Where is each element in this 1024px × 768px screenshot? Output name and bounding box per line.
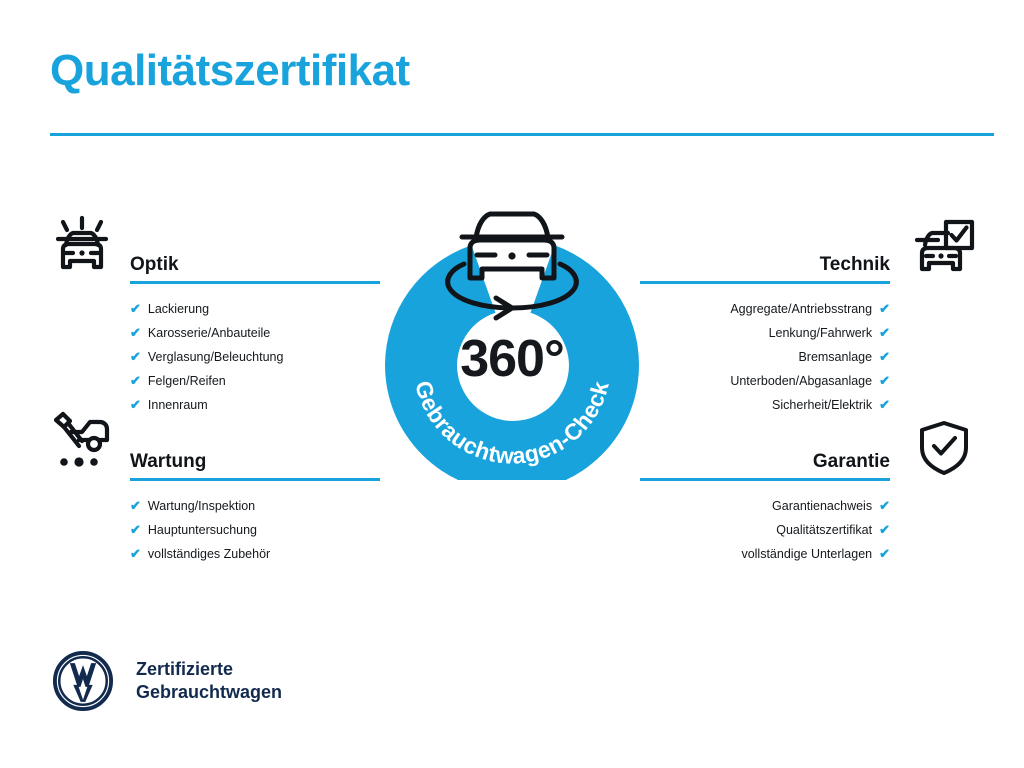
section-optik: Optik ✔Lackierung ✔Karosserie/Anbauteile…	[130, 240, 380, 417]
car-polish-icon	[46, 208, 118, 285]
check-icon: ✔	[130, 547, 141, 560]
check-icon: ✔	[130, 302, 141, 315]
list-item: Qualitätszertifikat✔	[640, 518, 890, 542]
list-item-label: Lackierung	[148, 297, 209, 321]
badge-graphic: Gebrauchtwagen-Check	[378, 190, 646, 480]
footer-brand: Zertifizierte Gebrauchtwagen	[52, 650, 282, 712]
section-optik-title: Optik	[130, 255, 179, 274]
list-item-label: Unterboden/Abgasanlage	[730, 369, 872, 393]
list-item-label: Lenkung/Fahrwerk	[769, 321, 873, 345]
list-item: ✔Wartung/Inspektion	[130, 494, 380, 518]
footer-brand-text: Zertifizierte Gebrauchtwagen	[136, 658, 282, 704]
check-icon: ✔	[130, 374, 141, 387]
check-icon: ✔	[879, 302, 890, 315]
check-icon: ✔	[130, 350, 141, 363]
footer-line-1: Zertifizierte	[136, 658, 282, 681]
list-item: ✔vollständiges Zubehör	[130, 542, 380, 566]
section-technik: Technik Aggregate/Antriebsstrang✔ Lenkun…	[640, 240, 890, 417]
list-item: Aggregate/Antriebsstrang✔	[640, 297, 890, 321]
section-optik-divider	[130, 281, 380, 284]
check-icon: ✔	[879, 398, 890, 411]
section-wartung-title: Wartung	[130, 452, 206, 471]
list-item: Garantienachweis✔	[640, 494, 890, 518]
list-item: ✔Karosserie/Anbauteile	[130, 321, 380, 345]
list-item-label: Aggregate/Antriebsstrang	[730, 297, 872, 321]
list-item: ✔Lackierung	[130, 297, 380, 321]
section-optik-list: ✔Lackierung ✔Karosserie/Anbauteile ✔Verg…	[130, 297, 380, 417]
check-icon: ✔	[130, 398, 141, 411]
section-garantie-title: Garantie	[813, 452, 890, 471]
list-item-label: Hauptuntersuchung	[148, 518, 257, 542]
list-item-label: Qualitätszertifikat	[776, 518, 872, 542]
check-icon: ✔	[879, 350, 890, 363]
list-item-label: Verglasung/Beleuchtung	[148, 345, 284, 369]
check-icon: ✔	[879, 499, 890, 512]
section-wartung-header: Wartung	[130, 437, 380, 471]
section-garantie: Garantie Garantienachweis✔ Qualitätszert…	[640, 437, 890, 566]
list-item: Unterboden/Abgasanlage✔	[640, 369, 890, 393]
section-wartung-divider	[130, 478, 380, 481]
360-check-badge: Gebrauchtwagen-Check 360°	[378, 190, 646, 480]
check-icon: ✔	[879, 547, 890, 560]
section-wartung-list: ✔Wartung/Inspektion ✔Hauptuntersuchung ✔…	[130, 494, 380, 566]
check-icon: ✔	[879, 374, 890, 387]
list-item-label: vollständige Unterlagen	[741, 542, 872, 566]
section-optik-header: Optik	[130, 240, 380, 274]
shield-check-icon	[914, 418, 974, 483]
list-item-label: Karosserie/Anbauteile	[148, 321, 270, 345]
list-item-label: Wartung/Inspektion	[148, 494, 255, 518]
list-item: Sicherheit/Elektrik✔	[640, 393, 890, 417]
check-icon: ✔	[130, 326, 141, 339]
section-technik-divider	[640, 281, 890, 284]
list-item: Bremsanlage✔	[640, 345, 890, 369]
section-technik-header: Technik	[640, 240, 890, 274]
list-item-label: Bremsanlage	[798, 345, 872, 369]
list-item: ✔Felgen/Reifen	[130, 369, 380, 393]
list-item-label: Sicherheit/Elektrik	[772, 393, 872, 417]
list-item-label: Garantienachweis	[772, 494, 872, 518]
list-item: ✔Innenraum	[130, 393, 380, 417]
title-divider	[50, 133, 994, 136]
list-item-label: vollständiges Zubehör	[148, 542, 270, 566]
page-title: Qualitätszertifikat	[50, 48, 410, 94]
list-item: vollständige Unterlagen✔	[640, 542, 890, 566]
list-item-label: Innenraum	[148, 393, 208, 417]
footer-line-2: Gebrauchtwagen	[136, 681, 282, 704]
section-garantie-divider	[640, 478, 890, 481]
section-wartung: Wartung ✔Wartung/Inspektion ✔Hauptunters…	[130, 437, 380, 566]
car-checkbox-icon	[908, 212, 980, 289]
check-icon: ✔	[879, 523, 890, 536]
list-item: Lenkung/Fahrwerk✔	[640, 321, 890, 345]
check-icon: ✔	[130, 523, 141, 536]
section-technik-title: Technik	[820, 255, 890, 274]
volkswagen-logo	[52, 650, 114, 712]
list-item-label: Felgen/Reifen	[148, 369, 226, 393]
section-garantie-list: Garantienachweis✔ Qualitätszertifikat✔ v…	[640, 494, 890, 566]
list-item: ✔Verglasung/Beleuchtung	[130, 345, 380, 369]
check-icon: ✔	[879, 326, 890, 339]
section-technik-list: Aggregate/Antriebsstrang✔ Lenkung/Fahrwe…	[640, 297, 890, 417]
check-icon: ✔	[130, 499, 141, 512]
section-garantie-header: Garantie	[640, 437, 890, 471]
car-service-tool-icon	[46, 406, 118, 483]
list-item: ✔Hauptuntersuchung	[130, 518, 380, 542]
